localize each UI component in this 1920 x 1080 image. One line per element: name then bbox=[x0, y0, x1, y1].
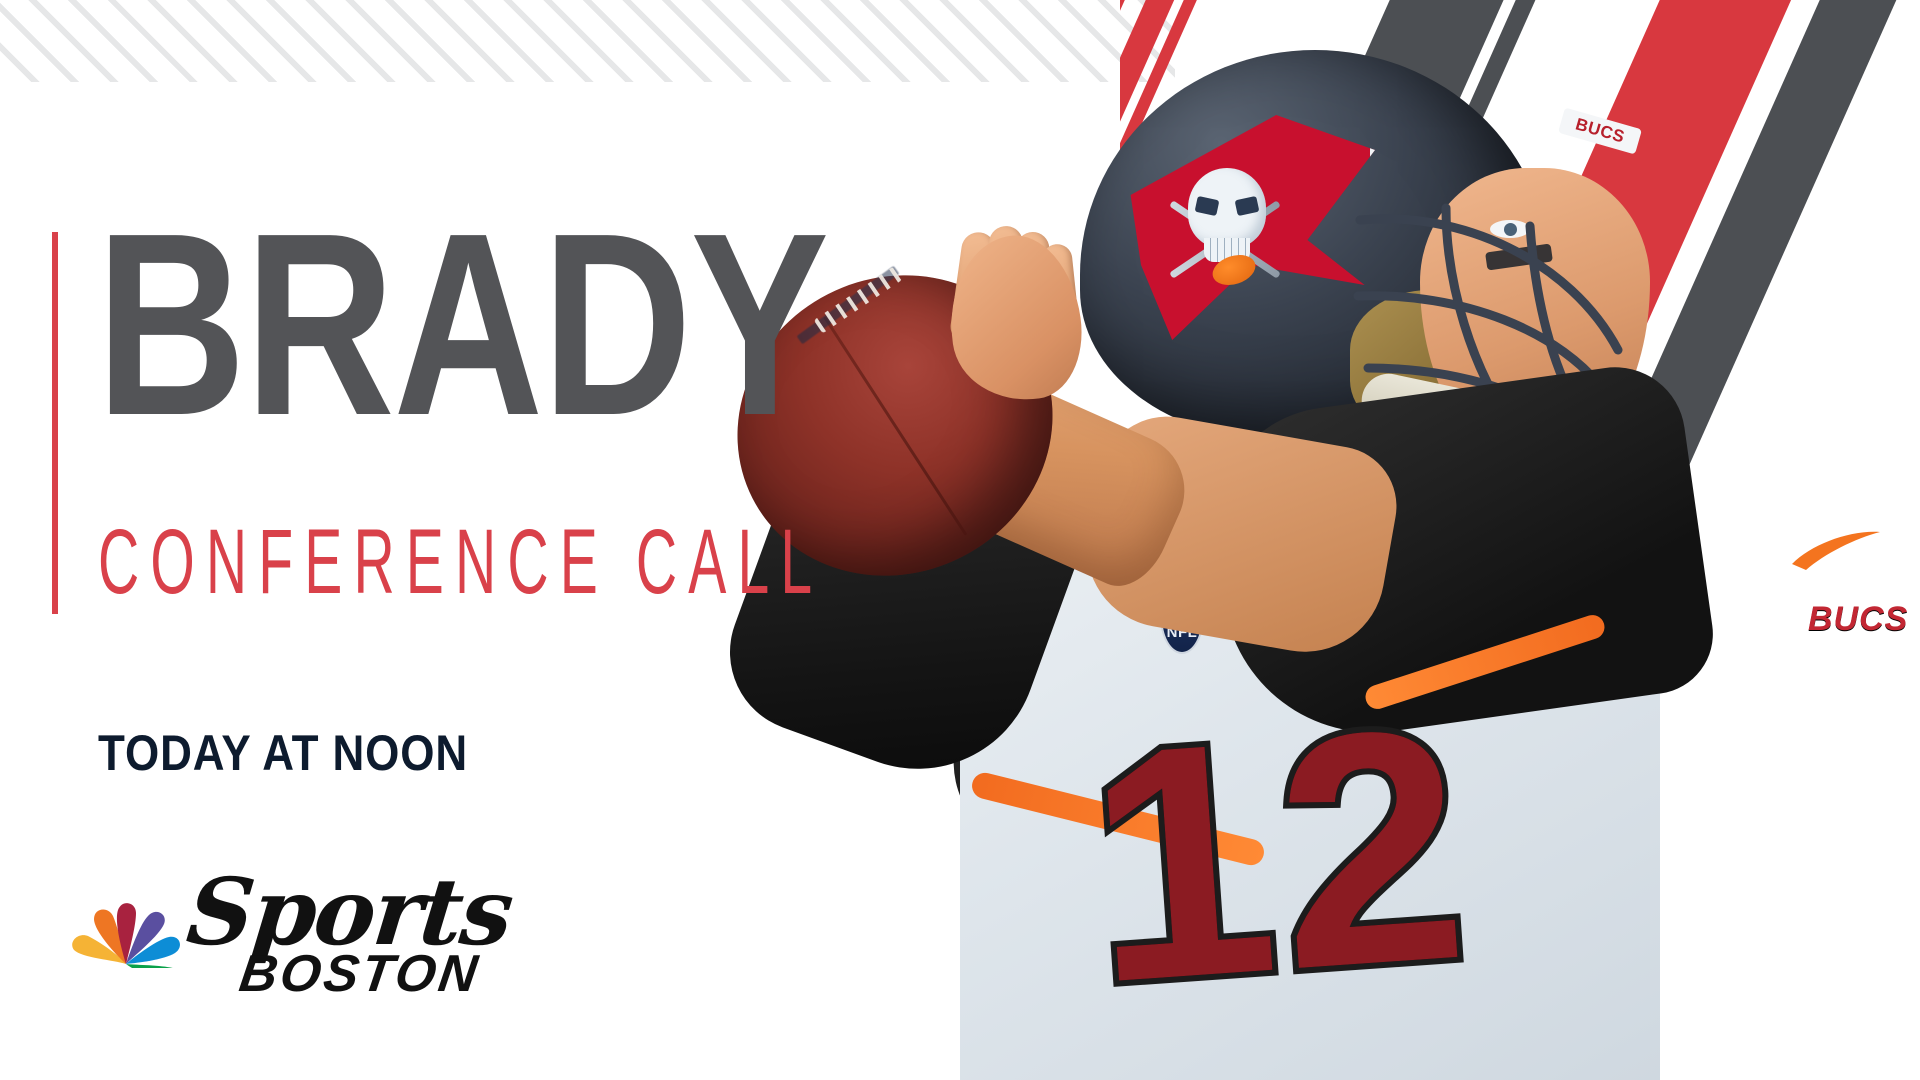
helmet-bucs-tab: BUCS bbox=[1558, 107, 1642, 154]
page-title: BRADY bbox=[96, 214, 828, 438]
boston-wordmark: BOSTON bbox=[236, 944, 484, 1004]
promo-graphic: BUCS BUCS NFL 12 bbox=[0, 0, 1920, 1080]
red-accent-rule bbox=[52, 232, 58, 614]
page-subtitle: CONFERENCE CALL bbox=[98, 516, 823, 608]
jersey-number: 12 bbox=[1079, 677, 1480, 1033]
nbc-sports-boston-logo: Sports BOSTON bbox=[70, 862, 460, 1012]
jersey-bucs-wordmark: BUCS bbox=[1808, 600, 1908, 639]
nike-swoosh-icon bbox=[1790, 530, 1882, 572]
nbc-peacock-icon bbox=[70, 868, 182, 968]
skull-icon bbox=[1188, 168, 1266, 248]
airtime-kicker: TODAY AT NOON bbox=[98, 728, 468, 778]
athlete-photo: BUCS BUCS NFL 12 bbox=[660, 0, 1920, 1080]
